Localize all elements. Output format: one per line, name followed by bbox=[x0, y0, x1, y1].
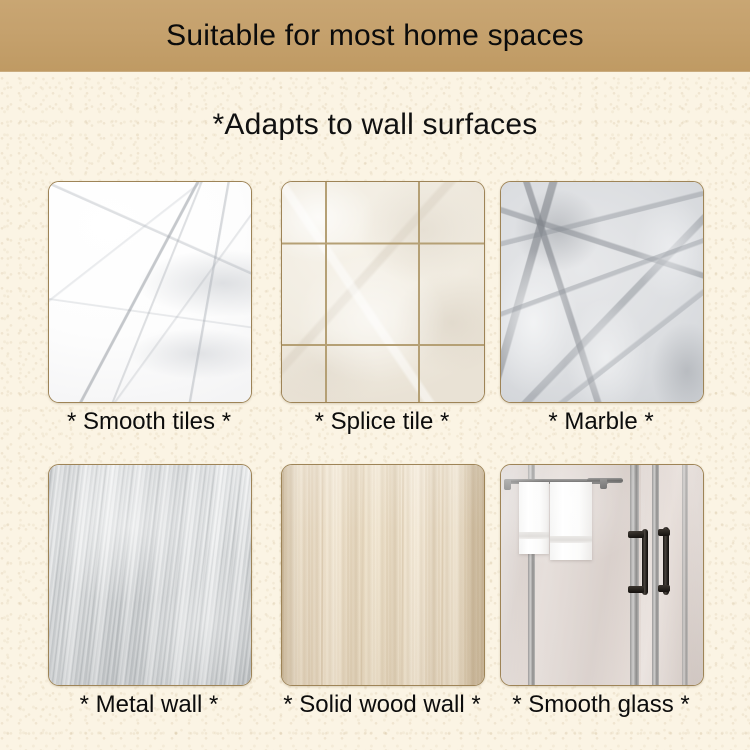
surface-caption-splice-tile: * Splice tile * bbox=[257, 408, 507, 436]
metal-sheen bbox=[49, 465, 251, 685]
surface-caption-smooth-glass: * Smooth glass * bbox=[476, 691, 726, 719]
surface-card-smooth-tiles[interactable] bbox=[48, 181, 252, 403]
surface-card-metal-wall[interactable] bbox=[48, 464, 252, 686]
header-banner: Suitable for most home spaces bbox=[0, 0, 750, 72]
splice-tile-grout-lines bbox=[282, 182, 484, 402]
surface-caption-smooth-tiles: * Smooth tiles * bbox=[24, 408, 274, 436]
surface-card-marble[interactable] bbox=[500, 181, 704, 403]
surface-caption-solid-wood-wall: * Solid wood wall * bbox=[257, 691, 507, 719]
surface-caption-marble: * Marble * bbox=[476, 408, 726, 436]
wood-edge-shading bbox=[282, 465, 484, 685]
glass-reflection bbox=[501, 465, 703, 685]
marble-veins-secondary bbox=[501, 182, 703, 402]
surface-card-splice-tile[interactable] bbox=[281, 181, 485, 403]
infographic-page: Suitable for most home spaces *Adapts to… bbox=[0, 0, 750, 750]
section-subtitle: *Adapts to wall surfaces bbox=[0, 108, 750, 142]
banner-title: Suitable for most home spaces bbox=[166, 19, 584, 53]
surface-card-solid-wood-wall[interactable] bbox=[281, 464, 485, 686]
surface-card-smooth-glass[interactable] bbox=[500, 464, 704, 686]
smooth-tile-veins-secondary bbox=[49, 182, 251, 402]
surface-caption-metal-wall: * Metal wall * bbox=[24, 691, 274, 719]
